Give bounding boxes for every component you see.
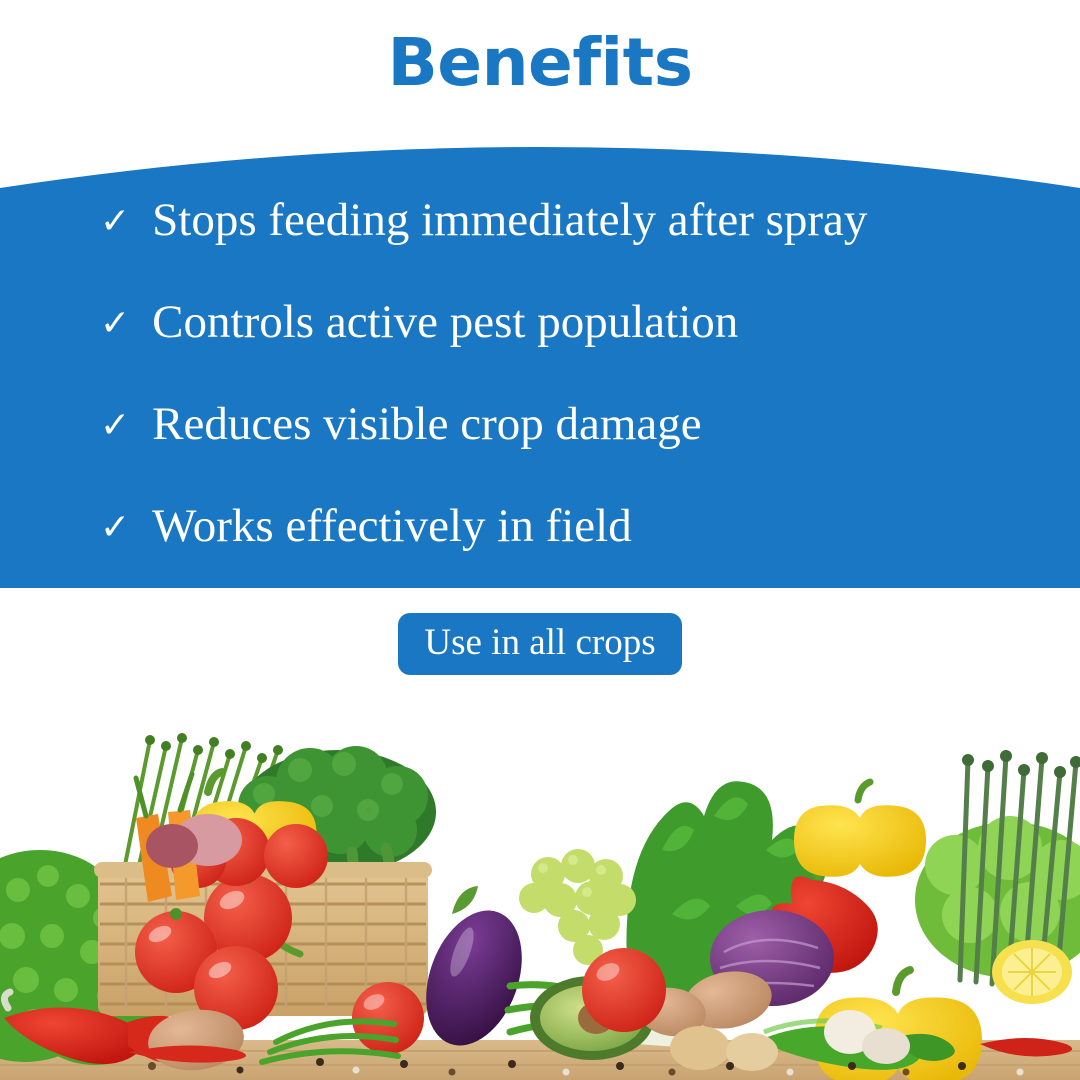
use-in-all-crops-badge: Use in all crops <box>398 613 681 675</box>
check-icon: ✓ <box>100 510 130 546</box>
yellow-pepper-upper-right <box>794 782 926 877</box>
list-item: ✓ Controls active pest population <box>100 298 1020 400</box>
benefits-panel: ✓ Stops feeding immediately after spray … <box>0 118 1080 588</box>
list-item: ✓ Stops feeding immediately after spray <box>100 196 1020 298</box>
check-icon: ✓ <box>100 204 130 240</box>
red-potatoes-left <box>146 814 242 868</box>
benefit-label: Reduces visible crop damage <box>152 400 701 449</box>
green-grapes <box>519 849 636 965</box>
lemon <box>992 940 1072 1004</box>
tomato-lower-left <box>352 982 424 1054</box>
vegetables-photo <box>0 700 1080 1080</box>
title-area: Benefits <box>0 0 1080 125</box>
benefits-list: ✓ Stops feeding immediately after spray … <box>0 118 1080 588</box>
check-icon: ✓ <box>100 306 130 342</box>
badge-area: Use in all crops <box>0 588 1080 708</box>
page-title: Benefits <box>388 30 693 96</box>
list-item: ✓ Reduces visible crop damage <box>100 400 1020 502</box>
benefit-label: Stops feeding immediately after spray <box>152 196 867 245</box>
benefits-poster: Benefits ✓ Stops feeding immediately aft… <box>0 0 1080 1080</box>
vegetables-illustration <box>0 700 1080 1080</box>
benefit-label: Controls active pest population <box>152 298 738 347</box>
check-icon: ✓ <box>100 408 130 444</box>
benefit-label: Works effectively in field <box>152 502 632 551</box>
tomato-right <box>582 948 666 1032</box>
